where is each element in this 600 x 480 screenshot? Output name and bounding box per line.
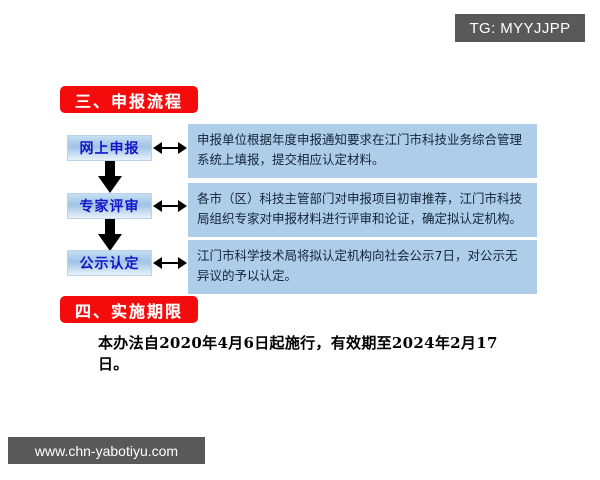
down-arrow-icon [98, 161, 122, 193]
flow-step-label: 专家评审 [80, 196, 140, 216]
flow-step-label: 公示认定 [80, 253, 140, 273]
arrow-shaft [160, 147, 180, 149]
flow-step-box-expert-review: 专家评审 [67, 193, 152, 219]
top-watermark-tag: TG: MYYJJPP [455, 14, 585, 42]
arrow-right-head [178, 200, 187, 212]
bottom-watermark-tag: www.chn-yabotiyu.com [8, 437, 205, 464]
implementation-period-paragraph: 本办法自2020年4月6日起施行，有效期至2024年2月17日。 [98, 332, 528, 374]
arrow-shaft [160, 262, 180, 264]
section-heading-flow: 三、申报流程 [60, 86, 198, 113]
arrow-right-head [178, 142, 187, 154]
double-arrow-icon [153, 141, 187, 155]
double-arrow-icon [153, 199, 187, 213]
down-arrow-icon [98, 219, 122, 251]
double-arrow-icon [153, 256, 187, 270]
arrow-head [98, 234, 122, 251]
flow-step-description-public-notice: 江门市科学技术局将拟认定机构向社会公示7日，对公示无异议的予以认定。 [188, 240, 537, 294]
section-heading-period: 四、实施期限 [60, 296, 198, 323]
flow-step-description-expert-review: 各市（区）科技主管部门对申报项目初审推荐，江门市科技局组织专家对申报材料进行评审… [188, 183, 537, 237]
flow-step-label: 网上申报 [80, 138, 140, 158]
flow-step-description-online-application: 申报单位根据年度申报通知要求在江门市科技业务综合管理系统上填报，提交相应认定材料… [188, 124, 537, 178]
flow-step-box-public-notice: 公示认定 [67, 250, 152, 276]
arrow-shaft [160, 205, 180, 207]
document-page: TG: MYYJJPP 三、申报流程 网上申报 申报单位根据年度申报通知要求在江… [0, 0, 600, 480]
flow-step-box-online-application: 网上申报 [67, 135, 152, 161]
arrow-right-head [178, 257, 187, 269]
arrow-head [98, 176, 122, 193]
